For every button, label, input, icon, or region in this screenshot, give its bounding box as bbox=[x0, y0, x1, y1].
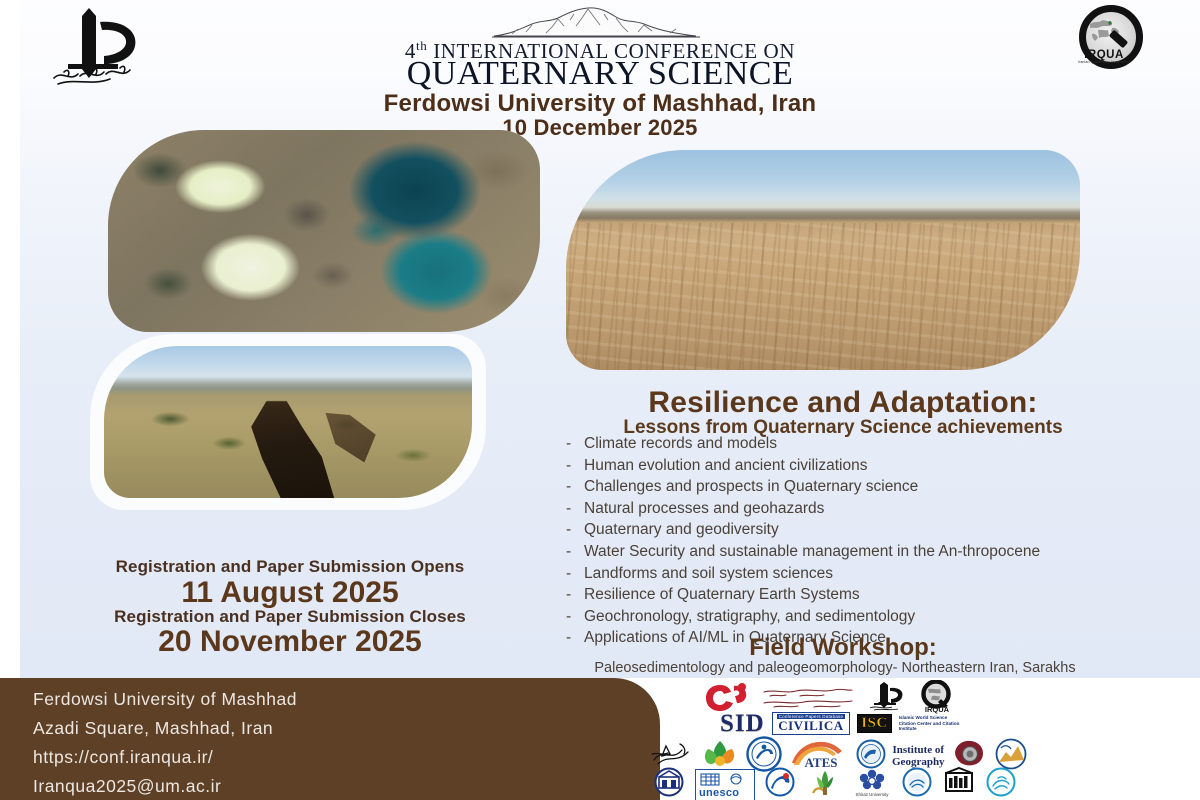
isc-logo: ISC bbox=[857, 714, 892, 733]
footer-website[interactable]: https://conf.iranqua.ir/ bbox=[33, 743, 633, 772]
bullet-dash: - bbox=[566, 541, 571, 563]
footer-address: Azadi Square, Mashhad, Iran bbox=[33, 714, 633, 743]
mountain-line-art-icon bbox=[488, 6, 704, 40]
unesco-logo: unesco bbox=[695, 769, 755, 800]
topic-item: -Geochronology, stratigraphy, and sedime… bbox=[566, 606, 1194, 628]
topic-list: -Climate records and models -Human evolu… bbox=[566, 433, 1194, 649]
photo-lake-urmia-satellite bbox=[108, 130, 540, 332]
topic-item: -Water Security and sustainable manageme… bbox=[566, 541, 1194, 563]
theme-title: Resilience and Adaptation: bbox=[486, 386, 1200, 420]
topic-label: Climate records and models bbox=[584, 435, 777, 452]
footer-contact-block: Ferdowsi University of Mashhad Azadi Squ… bbox=[33, 685, 633, 800]
topic-item: -Quaternary and geodiversity bbox=[566, 519, 1194, 541]
topic-item: -Natural processes and geohazards bbox=[566, 498, 1194, 520]
institute-of-geography-label: Institute of Geography bbox=[892, 745, 945, 768]
teal-seal-logo bbox=[762, 767, 798, 800]
navy-seal-logo bbox=[650, 767, 688, 800]
topic-label: Landforms and soil system sciences bbox=[584, 565, 833, 582]
topic-label: Human evolution and ancient civilization… bbox=[584, 457, 867, 474]
bullet-dash: - bbox=[566, 476, 571, 498]
plant-logo bbox=[805, 767, 845, 800]
civilica-label: CIVILICA bbox=[777, 719, 846, 732]
svg-text:Shiraz University: Shiraz University bbox=[856, 792, 890, 797]
photo-land-subsidence-frame bbox=[90, 334, 486, 510]
sponsor-logo-area: IRQUA SID Conference Papers Database CIV… bbox=[648, 678, 1200, 800]
conference-ordinal-suffix: th bbox=[416, 38, 427, 53]
shiraz-university-logo: Shiraz University bbox=[852, 767, 892, 800]
topic-label: Geochronology, stratigraphy, and sedimen… bbox=[584, 608, 915, 625]
registration-open-label: Registration and Paper Submission Opens bbox=[30, 557, 550, 577]
conference-title: QUATERNARY SCIENCE bbox=[0, 55, 1200, 93]
topic-item: -Resilience of Quaternary Earth Systems bbox=[566, 584, 1194, 606]
sponsor-row-4: unesco bbox=[650, 767, 1019, 800]
bullet-dash: - bbox=[566, 584, 571, 606]
field-workshop-description: Paleosedimentology and paleogeomorpholog… bbox=[470, 660, 1200, 676]
research-center-logo bbox=[983, 767, 1019, 800]
bullet-dash: - bbox=[566, 455, 571, 477]
institute-of-geography-line1: Institute of bbox=[892, 745, 945, 757]
topic-label: Resilience of Quaternary Earth Systems bbox=[584, 586, 860, 603]
unesco-label: unesco bbox=[699, 787, 739, 799]
topic-label-line2: thropocene bbox=[963, 543, 1041, 560]
topic-item: -Landforms and soil system sciences bbox=[566, 563, 1194, 585]
topic-label: Challenges and prospects in Quaternary s… bbox=[584, 478, 918, 495]
conference-poster: IRQUA Iranian Quaternary Association 4th… bbox=[0, 0, 1200, 800]
sid-logo: SID bbox=[720, 711, 765, 736]
footer-organization: Ferdowsi University of Mashhad bbox=[33, 685, 633, 714]
topic-item: -Climate records and models bbox=[566, 433, 1194, 455]
topic-label: Natural processes and geohazards bbox=[584, 500, 824, 517]
topic-label: Quaternary and geodiversity bbox=[584, 521, 779, 538]
bullet-dash: - bbox=[566, 498, 571, 520]
bullet-dash: - bbox=[566, 519, 571, 541]
blue-circle-seal-logo bbox=[899, 767, 935, 800]
bullet-dash: - bbox=[566, 606, 571, 628]
topic-item: -Human evolution and ancient civilizatio… bbox=[566, 455, 1194, 477]
photo-land-subsidence-fissure bbox=[104, 346, 472, 498]
bullet-dash: - bbox=[566, 563, 571, 585]
field-workshop-title: Field Workshop: bbox=[486, 634, 1200, 662]
registration-open-date: 11 August 2025 bbox=[30, 576, 550, 610]
black-emblem-logo bbox=[942, 767, 976, 800]
registration-close-date: 20 November 2025 bbox=[30, 625, 550, 659]
footer-email[interactable]: Iranqua2025@um.ac.ir bbox=[33, 772, 633, 800]
photo-dry-playa-landscape bbox=[566, 150, 1080, 370]
registration-close-label: Registration and Paper Submission Closes bbox=[30, 607, 550, 627]
sponsor-row-2: SID Conference Papers Database CIVILICA … bbox=[720, 711, 961, 736]
civilica-logo: Conference Papers Database CIVILICA bbox=[772, 712, 851, 735]
isc-description: Islamic World Science Citation Center an… bbox=[899, 715, 961, 732]
topic-item: -Challenges and prospects in Quaternary … bbox=[566, 476, 1194, 498]
isc-label: ISC bbox=[861, 716, 888, 731]
topic-label-line1: Water Security and sustainable managemen… bbox=[584, 543, 963, 560]
bullet-dash: - bbox=[566, 433, 571, 455]
conference-venue: Ferdowsi University of Mashhad, Iran bbox=[0, 90, 1200, 118]
